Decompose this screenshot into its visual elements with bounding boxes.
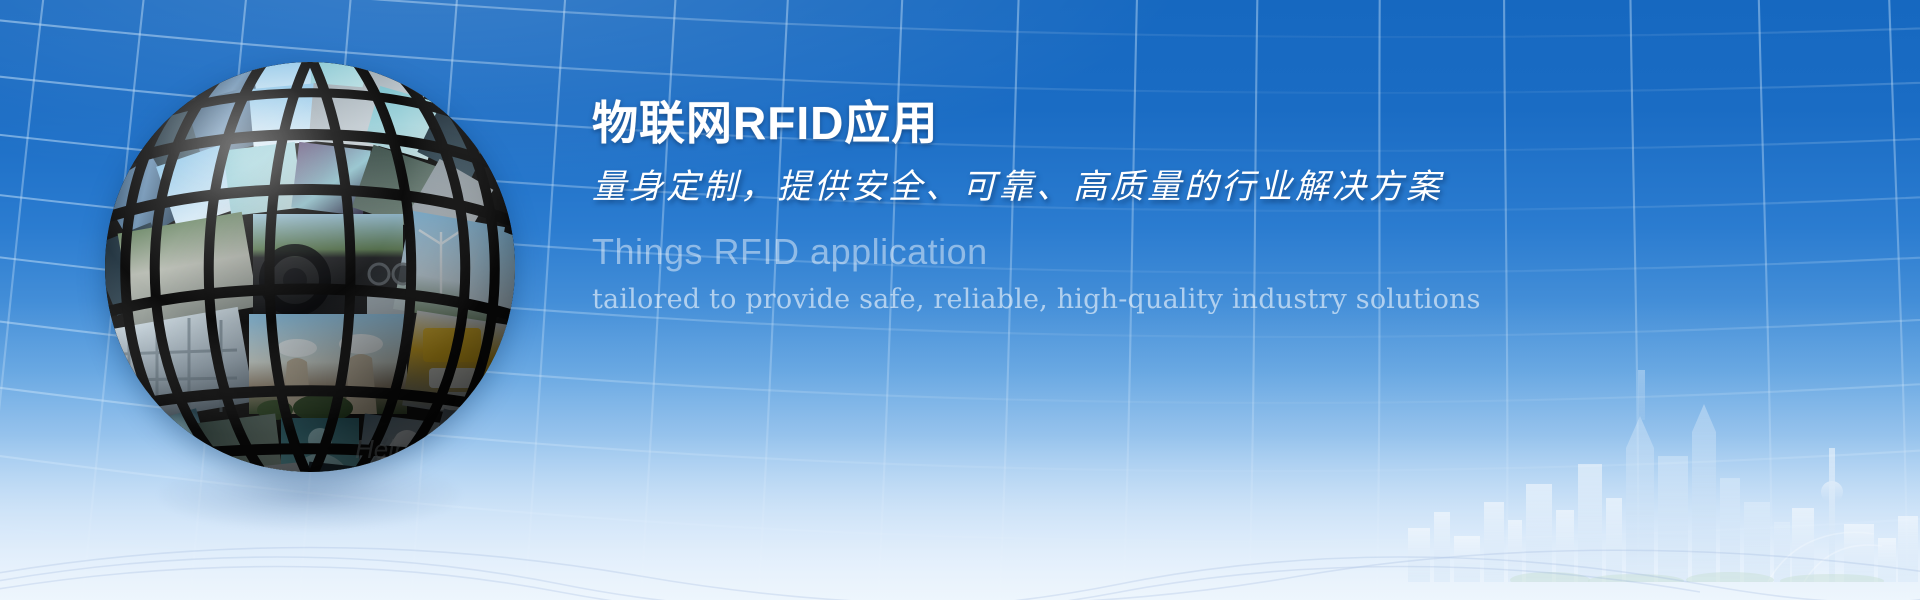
- globe-sphere: Helpp: [105, 62, 515, 472]
- skyline-svg: [1400, 352, 1920, 582]
- banner-subline-en: tailored to provide safe, reliable, high…: [592, 284, 1772, 316]
- city-skyline-silhouette: [1400, 352, 1920, 582]
- photo-mosaic-globe: Helpp: [105, 62, 515, 472]
- banner-copy: 物联网RFID应用 量身定制，提供安全、可靠、高质量的行业解决方案 Things…: [592, 96, 1772, 317]
- globe-svg: Helpp: [105, 62, 515, 472]
- banner-headline-en: Things RFID application: [592, 231, 1772, 272]
- banner-subline-cn: 量身定制，提供安全、可靠、高质量的行业解决方案: [592, 166, 1772, 209]
- banner-headline-cn: 物联网RFID应用: [592, 96, 1772, 150]
- hero-banner: Helpp 物联网RFID应用 量身定制，提供安全、可靠、高质量的行业解决方案 …: [0, 0, 1920, 600]
